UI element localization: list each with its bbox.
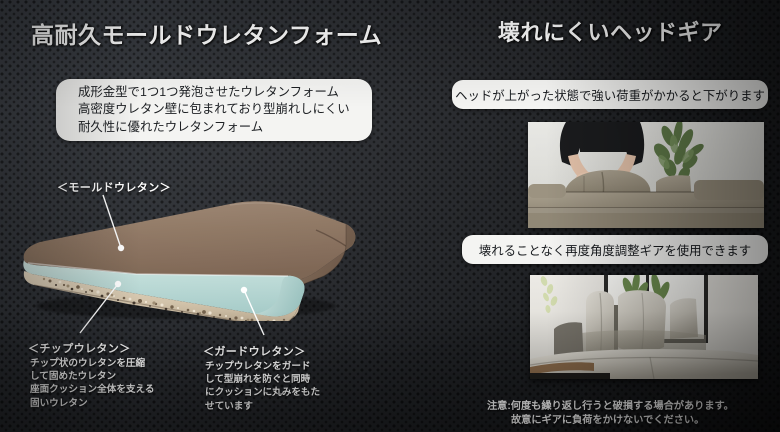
warning-line-2: 故意にギアに負荷をかけないでください。 — [487, 414, 734, 428]
annotation-body-line: チップ状のウレタンを圧縮 — [30, 357, 154, 370]
page-title-right: 壊れにくいヘッドギア — [498, 15, 723, 47]
annotation-body-line: チップウレタンをガード — [205, 360, 320, 373]
annotation-body-line: 固いウレタン — [30, 397, 154, 410]
warning-note: 注意:何度も繰り返し行うと破損する場合があります。 故意にギアに負荷をかけないで… — [487, 400, 734, 429]
sofa-headrest-raised-photo — [530, 275, 758, 379]
sofa-headrest-press-photo — [528, 122, 764, 228]
callout-foam-line-3: 耐久性に優れたウレタンフォーム — [78, 119, 350, 137]
annotation-body-line: して固めたウレタン — [30, 370, 154, 383]
callout-foam-line-1: 成形金型で1つ1つ発泡させたウレタンフォーム — [78, 84, 350, 102]
annotation-label-mold-urethane: ＜モールドウレタン＞ — [57, 179, 171, 195]
annotation-body-line: せています — [205, 400, 320, 413]
callout-gear-reusable: 壊れることなく再度角度調整ギアを使用できます — [462, 235, 768, 264]
callout-headrest-lowers: ヘッドが上がった状態で強い荷重がかかると下がります — [452, 80, 768, 109]
callout-foam-description: 成形金型で1つ1つ発泡させたウレタンフォーム 高密度ウレタン壁に包まれており型崩… — [56, 79, 372, 141]
annotation-label-chip-urethane: ＜チップウレタン＞ — [28, 340, 131, 356]
warning-line-1: 注意:何度も繰り返し行うと破損する場合があります。 — [487, 401, 734, 412]
annotation-body-line: して型崩れを防ぐと同時 — [205, 373, 320, 386]
annotation-body-chip-urethane: チップ状のウレタンを圧縮 して固めたウレタン 座面クッション全体を支える 固いウ… — [30, 357, 154, 410]
annotation-body-guard-urethane: チップウレタンをガード して型崩れを防ぐと同時 にクッションに丸みをもた せてい… — [205, 360, 320, 413]
page-title-left: 高耐久モールドウレタンフォーム — [31, 16, 382, 50]
annotation-body-line: 座面クッション全体を支える — [30, 383, 154, 396]
slide-root: 高耐久モールドウレタンフォーム 壊れにくいヘッドギア 成形金型で1つ1つ発泡させ… — [0, 0, 780, 432]
callout-foam-line-2: 高密度ウレタン壁に包まれており型崩れしにくい — [78, 101, 350, 119]
annotation-body-line: にクッションに丸みをもた — [205, 386, 320, 399]
cushion-cutaway-photo — [16, 186, 366, 321]
annotation-label-guard-urethane: ＜ガードウレタン＞ — [203, 343, 306, 359]
